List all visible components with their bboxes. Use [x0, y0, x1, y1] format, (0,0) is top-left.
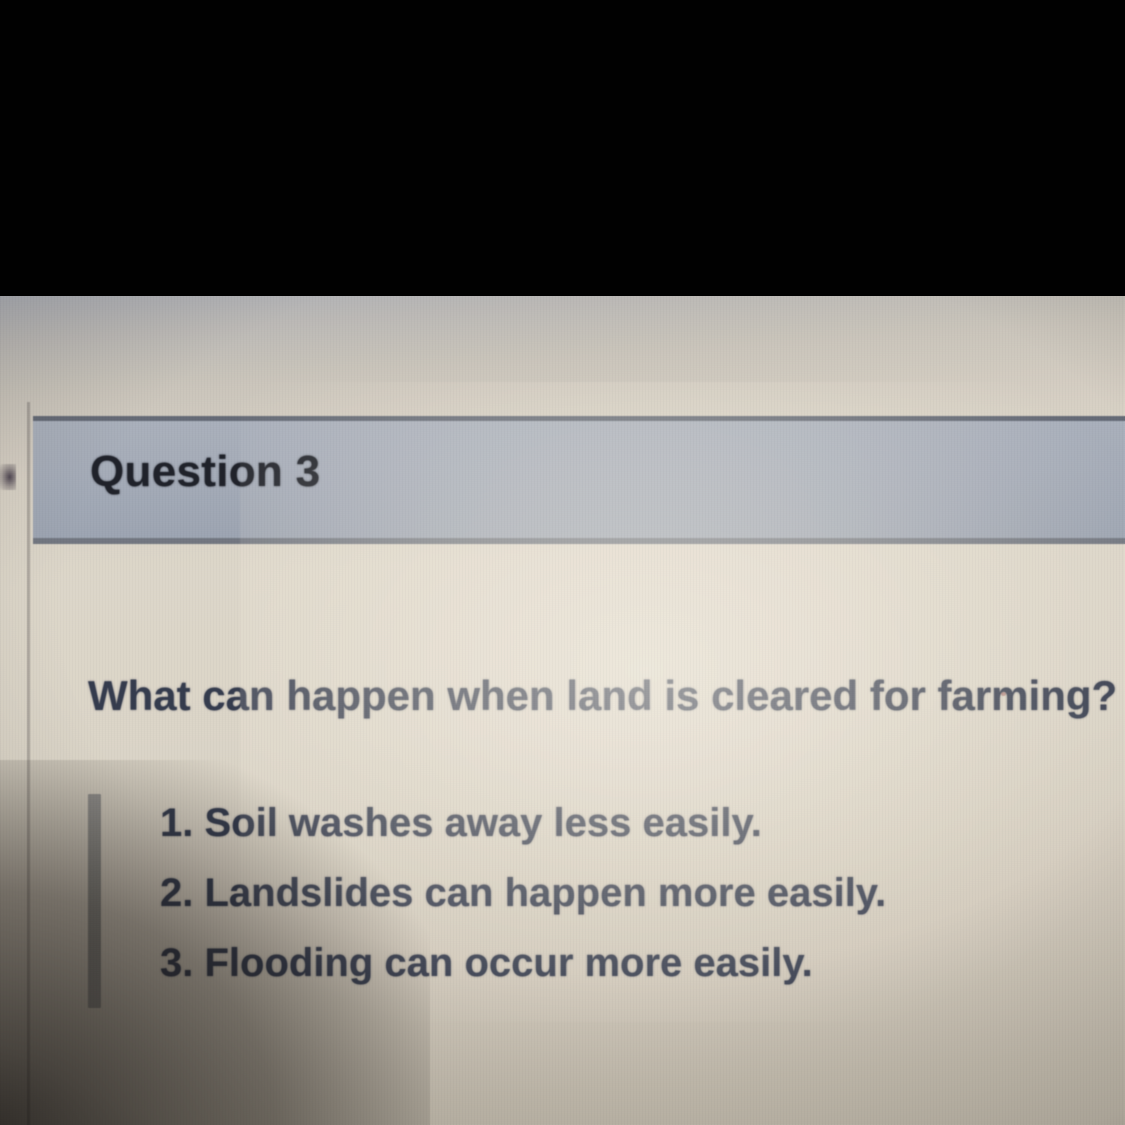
list-item[interactable]: 1. Soil washes away less easily. — [160, 788, 1100, 858]
photo-of-monitor: Question 3 What can happen when land is … — [0, 0, 1125, 1125]
list-item[interactable]: 2. Landslides can happen more easily. — [160, 858, 1100, 928]
screen-dust-speck — [1001, 692, 1006, 696]
question-body: What can happen when land is cleared for… — [33, 544, 1125, 1125]
quiz-question-panel: Question 3 What can happen when land is … — [33, 416, 1125, 1125]
answer-option-list: 1. Soil washes away less easily. 2. Land… — [160, 788, 1100, 998]
question-stem-text: What can happen when land is cleared for… — [88, 672, 1117, 720]
option-list-vertical-rule — [88, 794, 101, 1008]
monitor-screen-surface: Question 3 What can happen when land is … — [0, 292, 1125, 1125]
photo-letterbox-band — [0, 0, 1125, 296]
list-item[interactable]: 3. Flooding can occur more easily. — [160, 928, 1100, 998]
cropped-edge-marker-icon — [0, 464, 16, 490]
page-title: Question 3 — [90, 447, 320, 497]
panel-frame-divider — [27, 402, 30, 1125]
question-header-bar: Question 3 — [33, 416, 1125, 544]
